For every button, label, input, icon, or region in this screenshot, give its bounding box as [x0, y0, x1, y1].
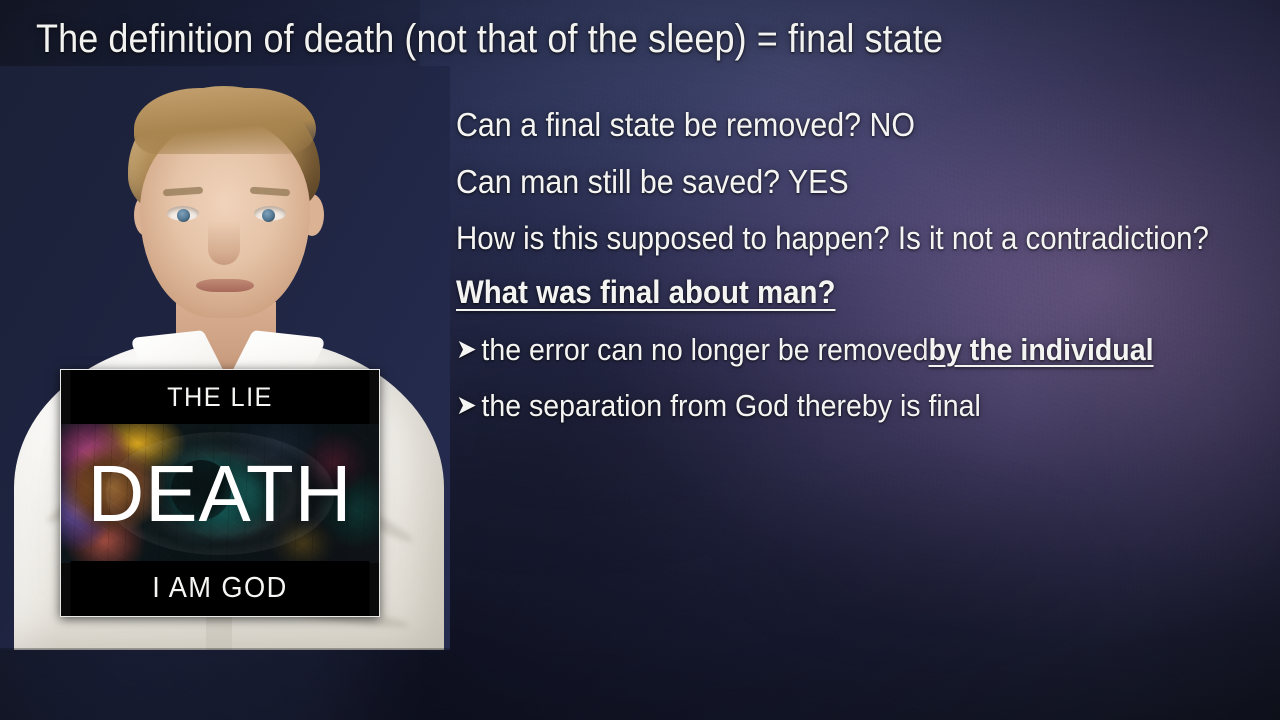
- body-text-block: Can a final state be removed? NO Can man…: [456, 108, 1256, 446]
- card-bottom-label: I AM GOD: [71, 561, 370, 616]
- question-line-3: How is this supposed to happen? Is it no…: [456, 222, 1192, 254]
- page-title: The definition of death (not that of the…: [36, 17, 1098, 62]
- photo-bottom-edge: [0, 648, 450, 650]
- mouth: [196, 279, 254, 292]
- arrow-bullet-icon: ➤: [456, 336, 477, 363]
- arrow-bullet-icon: ➤: [456, 392, 477, 419]
- bullet-item-1-text: the error can no longer be removed: [481, 334, 928, 365]
- bullet-item-1: ➤ the error can no longer be removed by …: [456, 334, 1192, 365]
- card-main-word: DEATH: [64, 424, 376, 563]
- death-image-card: THE LIE DEATH I AM GOD: [60, 369, 380, 617]
- bullet-item-2-text: the separation from God thereby is final: [481, 390, 980, 421]
- bullet-item-2: ➤ the separation from God thereby is fin…: [456, 390, 1192, 421]
- slide-canvas: THE LIE DEATH I AM GOD The definition of…: [0, 0, 1280, 720]
- question-line-1: Can a final state be removed? NO: [456, 108, 1192, 141]
- iris-right: [262, 209, 275, 222]
- card-top-label: THE LIE: [71, 370, 370, 424]
- bullet-item-1-emphasis: by the individual: [928, 334, 1153, 365]
- question-line-2: Can man still be saved? YES: [456, 165, 1192, 198]
- iris-left: [177, 209, 190, 222]
- nose: [208, 221, 240, 265]
- hair-fringe: [134, 88, 316, 154]
- body-heading: What was final about man?: [456, 276, 1192, 308]
